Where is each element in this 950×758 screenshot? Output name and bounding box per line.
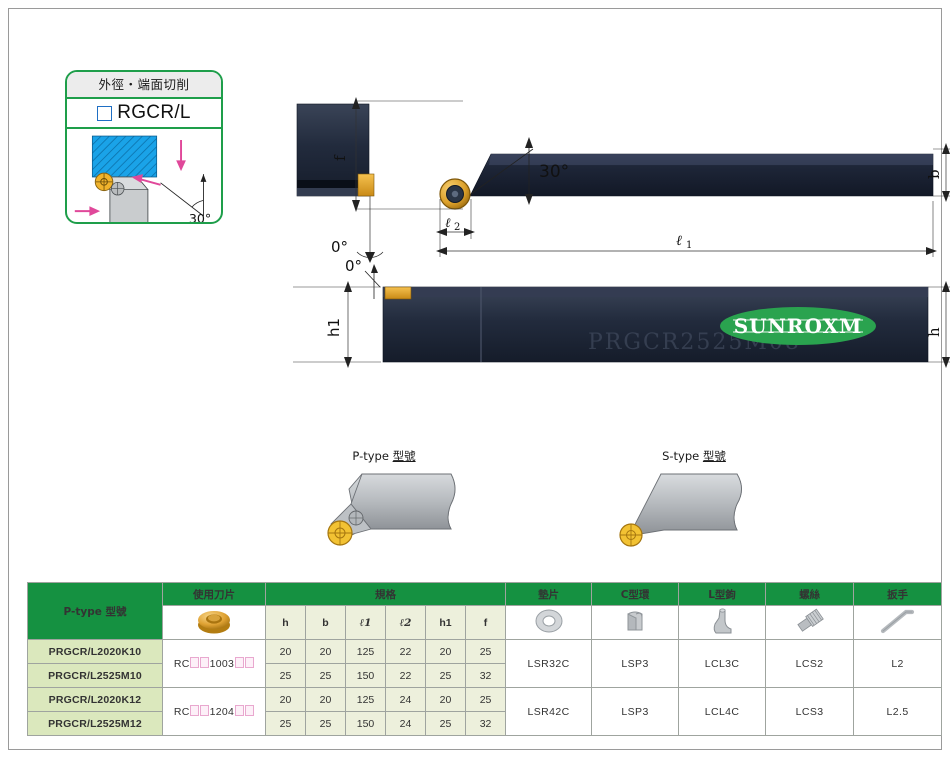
hex-wrench-icon	[854, 606, 942, 640]
row-l2: 24	[386, 712, 426, 736]
square-placeholder-icon	[97, 106, 112, 121]
end-view-block	[297, 104, 374, 196]
row-f: 32	[466, 664, 506, 688]
side-view-toolholder: PRGCR2525M08 SUNROXM	[383, 287, 928, 362]
row-h1: 20	[426, 688, 466, 712]
row-wrench: L2.5	[854, 688, 942, 736]
specification-table-wrapper: P-type 型號 使用刀片 規格 墊片 C型環 L型鉤 螺絲 扳手	[27, 582, 941, 736]
table-header-row-green: P-type 型號 使用刀片 規格 墊片 C型環 L型鉤 螺絲 扳手	[28, 583, 942, 606]
placeholder-box-icon	[200, 705, 209, 716]
row-b: 25	[306, 712, 346, 736]
header-wrench: 扳手	[854, 583, 942, 606]
tool-type-badge: 外徑・端面切削 RGCR/L	[65, 70, 223, 224]
header-cring: C型環	[592, 583, 679, 606]
row-l1: 150	[346, 712, 386, 736]
row-l2: 24	[386, 688, 426, 712]
row-lhook: LCL3C	[679, 640, 766, 688]
dim-b-label: b	[925, 169, 943, 179]
p-type-figure: P-type 型號	[259, 444, 509, 559]
dimension-h1: h1	[293, 281, 381, 368]
row-wrench: L2	[854, 640, 942, 688]
svg-text:30°: 30°	[189, 211, 211, 224]
row-cring: LSP3	[592, 640, 679, 688]
row-h: 25	[266, 664, 306, 688]
placeholder-box-icon	[190, 705, 199, 716]
placeholder-box-icon	[200, 657, 209, 668]
s-type-label: S-type 型號	[569, 448, 819, 464]
badge-code-row: RGCR/L	[67, 99, 221, 129]
row-l1: 150	[346, 664, 386, 688]
header-model: P-type 型號	[28, 583, 163, 640]
row-h1: 20	[426, 640, 466, 664]
row-h: 25	[266, 712, 306, 736]
placeholder-box-icon	[235, 705, 244, 716]
table-header-row-icons: h b ℓ1 ℓ2 h1 f	[28, 606, 942, 640]
badge-title: 外徑・端面切削	[67, 72, 221, 99]
angle-30-label: 30°	[539, 162, 569, 182]
spec-col-h1: h1	[426, 606, 466, 640]
row-screw: LCS3	[766, 688, 854, 736]
svg-text:1: 1	[686, 240, 692, 251]
row-screw: LCS2	[766, 640, 854, 688]
angle-0-top-label: 0°	[331, 238, 348, 256]
spec-col-l1: ℓ1	[346, 606, 386, 640]
row-l2: 22	[386, 664, 426, 688]
angle-0-bottom-label: 0°	[345, 257, 362, 275]
row-b: 20	[306, 688, 346, 712]
spec-col-f: f	[466, 606, 506, 640]
dim-h-label: h	[925, 327, 943, 337]
angle-0-bottom-group: 0°	[345, 257, 380, 299]
row-h1: 25	[426, 712, 466, 736]
row-f: 25	[466, 640, 506, 664]
header-insert: 使用刀片	[163, 583, 266, 606]
row-lhook: LCL4C	[679, 688, 766, 736]
header-spec: 規格	[266, 583, 506, 606]
row-l1: 125	[346, 640, 386, 664]
svg-text:2: 2	[454, 222, 460, 233]
row-insert-code: RC1204	[163, 688, 266, 736]
row-h: 20	[266, 688, 306, 712]
spec-col-b: b	[306, 606, 346, 640]
spec-col-l2: ℓ2	[386, 606, 426, 640]
row-l2: 22	[386, 640, 426, 664]
l-hook-icon	[679, 606, 766, 640]
badge-cutting-diagram: 30°	[67, 127, 221, 224]
dimension-l1: ℓ 1	[436, 201, 937, 257]
placeholder-box-icon	[245, 657, 254, 668]
placeholder-box-icon	[190, 657, 199, 668]
c-ring-clamp-icon	[592, 606, 679, 640]
row-h1: 25	[426, 664, 466, 688]
row-model: PRGCR/L2020K12	[28, 688, 163, 712]
washer-icon	[506, 606, 592, 640]
brand-logo-text: SUNROXM	[734, 314, 863, 338]
row-f: 25	[466, 688, 506, 712]
row-shim: LSR32C	[506, 640, 592, 688]
screw-icon	[766, 606, 854, 640]
row-model: PRGCR/L2525M10	[28, 664, 163, 688]
placeholder-box-icon	[245, 705, 254, 716]
spec-col-h: h	[266, 606, 306, 640]
row-h: 20	[266, 640, 306, 664]
header-lhook: L型鉤	[679, 583, 766, 606]
row-model: PRGCR/L2525M12	[28, 712, 163, 736]
row-f: 32	[466, 712, 506, 736]
row-shim: LSR42C	[506, 688, 592, 736]
header-screw: 螺絲	[766, 583, 854, 606]
dim-h1-label: h1	[325, 318, 343, 337]
table-row: PRGCR/L2020K10 RC1003 20 20 125 22 20 25…	[28, 640, 942, 664]
tool-engineering-drawing: 0° f	[233, 49, 950, 389]
row-model: PRGCR/L2020K10	[28, 640, 163, 664]
page-frame: 外徑・端面切削 RGCR/L	[8, 8, 942, 750]
dimension-h: h	[925, 281, 950, 368]
table-row: PRGCR/L2020K12 RC1204 20 20 125 24 20 25…	[28, 688, 942, 712]
row-insert-code: RC1003	[163, 640, 266, 688]
row-b: 20	[306, 640, 346, 664]
row-l1: 125	[346, 688, 386, 712]
row-b: 25	[306, 664, 346, 688]
badge-code-label: RGCR/L	[117, 102, 191, 124]
product-spec-sheet: 外徑・端面切削 RGCR/L	[0, 0, 950, 758]
specification-table: P-type 型號 使用刀片 規格 墊片 C型環 L型鉤 螺絲 扳手	[27, 582, 942, 736]
header-shim: 墊片	[506, 583, 592, 606]
row-cring: LSP3	[592, 688, 679, 736]
p-type-label: P-type 型號	[259, 448, 509, 464]
round-insert-icon	[163, 606, 266, 640]
top-view-toolholder	[440, 154, 933, 209]
svg-text:ℓ: ℓ	[676, 233, 682, 249]
placeholder-box-icon	[235, 657, 244, 668]
svg-text:ℓ: ℓ	[445, 216, 451, 231]
s-type-figure: S-type 型號	[569, 444, 819, 559]
